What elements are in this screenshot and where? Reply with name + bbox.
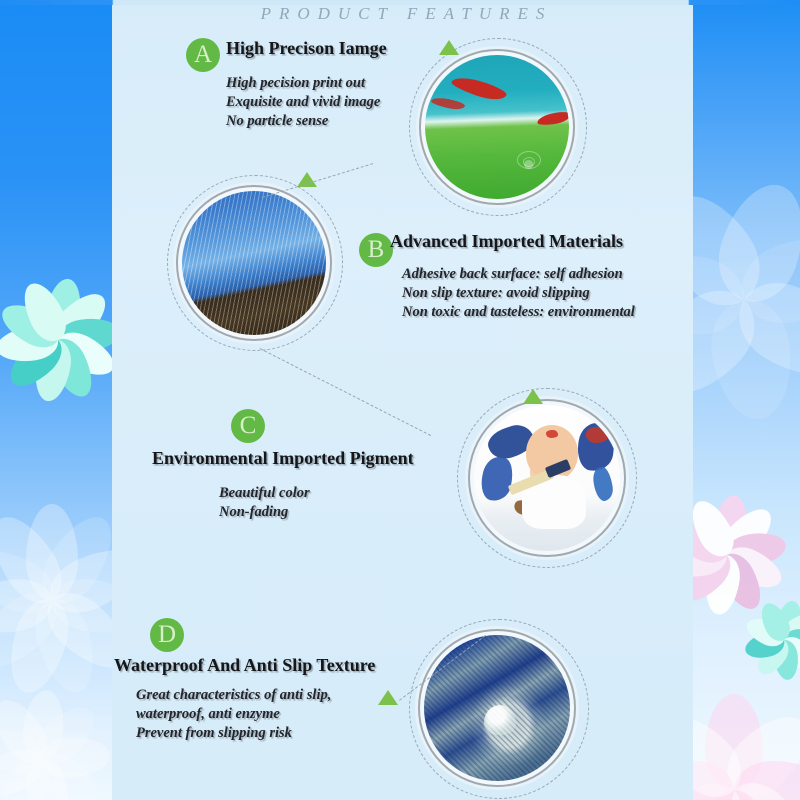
bullet-a-1: High pecision print out	[226, 74, 380, 93]
bullet-c-1: Beautiful color	[219, 484, 310, 503]
photo-image-c	[474, 405, 620, 551]
paint-splatter	[546, 430, 558, 438]
feature-heading-b: Advanced Imported Materials	[390, 231, 623, 252]
koi-fish-shape-2	[430, 95, 465, 112]
bullet-d-1: Great characteristics of anti slip,	[136, 686, 331, 705]
photo-image-a	[425, 55, 569, 199]
arrow-marker-a	[439, 40, 459, 55]
paint-splatter	[591, 466, 615, 503]
water-droplet-shape	[484, 705, 516, 735]
left-decorative-band	[0, 0, 118, 800]
right-decorative-band	[688, 0, 800, 800]
feature-badge-a: A	[186, 38, 220, 72]
arrow-marker-d	[378, 690, 398, 705]
feature-bullets-c: Beautiful color Non-fading	[219, 484, 310, 522]
bullet-a-3: No particle sense	[226, 112, 380, 131]
arrow-marker-c	[523, 389, 543, 404]
photo-image-b	[182, 191, 326, 335]
koi-fish-shape	[450, 72, 508, 104]
bullet-b-2: Non slip texture: avoid slipping	[402, 284, 635, 303]
page-title: PRODUCT FEATURES	[112, 4, 693, 24]
koi-pond-photo	[407, 36, 592, 221]
feature-badge-b: B	[359, 233, 393, 267]
bullet-d-2: waterproof, anti enzyme	[136, 705, 331, 724]
bullet-b-1: Adhesive back surface: self adhesion	[402, 265, 635, 284]
waterproof-texture-photo	[407, 616, 592, 800]
content-panel: PRODUCT FEATURES A High Precison Iamge H…	[112, 0, 693, 800]
blue-fabric-photo	[167, 175, 347, 355]
painting-baby-photo	[457, 386, 642, 571]
feature-bullets-d: Great characteristics of anti slip, wate…	[136, 686, 331, 743]
feature-heading-c: Environmental Imported Pigment	[152, 448, 414, 469]
bullet-d-3: Prevent from slipping risk	[136, 724, 331, 743]
feature-bullets-a: High pecision print out Exquisite and vi…	[226, 74, 380, 131]
paint-splatter	[478, 454, 516, 503]
feature-bullets-b: Adhesive back surface: self adhesion Non…	[402, 265, 635, 322]
feature-badge-c: C	[231, 409, 265, 443]
product-features-infographic: PRODUCT FEATURES A High Precison Iamge H…	[0, 0, 800, 800]
photo-image-d	[424, 635, 570, 781]
feature-heading-a: High Precison Iamge	[226, 38, 387, 59]
bullet-b-3: Non toxic and tasteless: environmental	[402, 303, 635, 322]
koi-fish-shape-3	[536, 111, 569, 127]
feature-heading-d: Waterproof And Anti Slip Texture	[114, 655, 375, 676]
connector-b-to-c	[260, 348, 432, 436]
ripple-shape-2	[523, 157, 535, 167]
top-edge-strip	[0, 0, 800, 5]
bullet-a-2: Exquisite and vivid image	[226, 93, 380, 112]
bullet-c-2: Non-fading	[219, 503, 310, 522]
paint-splatter	[586, 427, 608, 443]
feature-badge-d: D	[150, 618, 184, 652]
